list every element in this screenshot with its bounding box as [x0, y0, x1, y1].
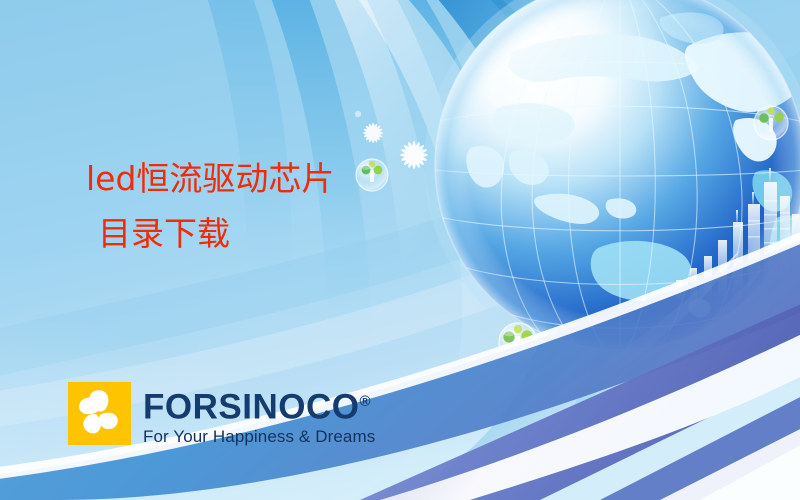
page-title: led恒流驱动芯片 目录下载 [86, 162, 334, 250]
forsinoco-pinwheel-mark [68, 382, 131, 445]
logo-tagline: For Your Happiness & Dreams [143, 427, 375, 447]
logo-wordmark: FORSINOCO® [143, 384, 375, 426]
registered-trademark-icon: ® [359, 393, 370, 410]
headline-line-1: led恒流驱动芯片 [86, 162, 334, 195]
headline-line-2: 目录下载 [98, 217, 334, 250]
company-logo[interactable]: FORSINOCO® For Your Happiness & Dreams [68, 382, 375, 447]
promotional-banner: led恒流驱动芯片 目录下载 FORSINOCO® For Your Happi… [0, 0, 800, 500]
logo-wordmark-text: FORSINOCO [143, 388, 359, 427]
logo-text-block: FORSINOCO® For Your Happiness & Dreams [143, 382, 375, 447]
